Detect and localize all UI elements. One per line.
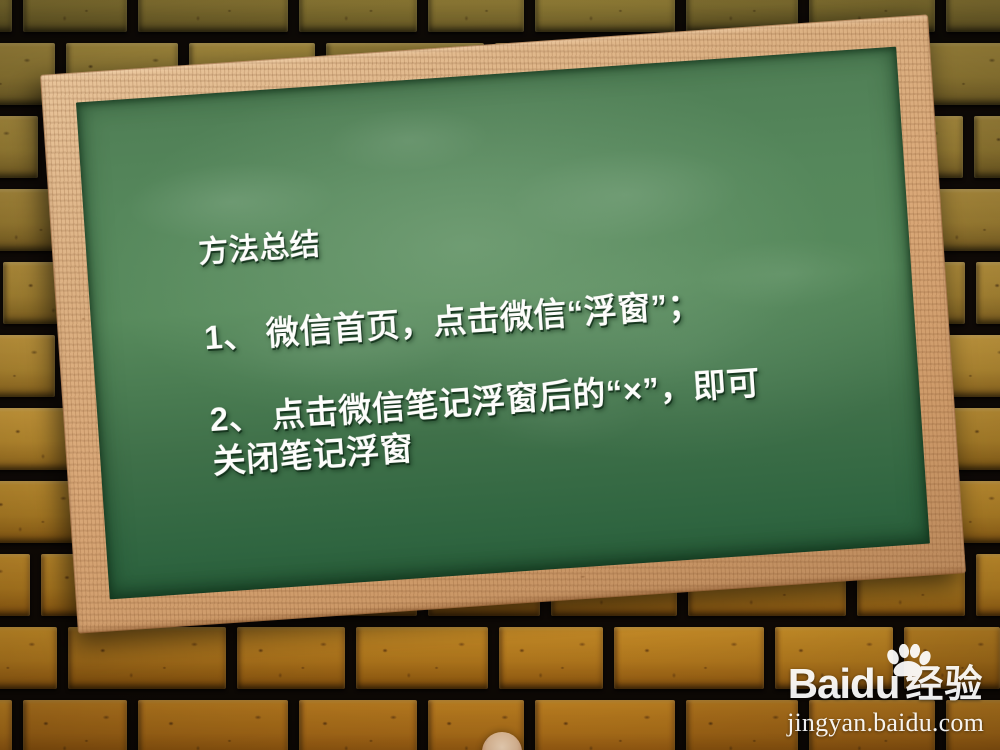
brick (138, 700, 288, 750)
brick (976, 262, 1000, 324)
brick (428, 0, 524, 32)
brick (686, 700, 798, 750)
brick (299, 700, 417, 750)
brick (974, 116, 1000, 178)
brick (904, 627, 1000, 689)
brick (0, 0, 12, 32)
chalkboard-wooden-frame: 方法总结 1、 微信首页，点击微信“浮窗”； 2、 点击微信笔记浮窗后的“×”，… (40, 14, 966, 633)
brick (0, 116, 38, 178)
brick (535, 700, 675, 750)
chalkboard-surface: 方法总结 1、 微信首页，点击微信“浮窗”； 2、 点击微信笔记浮窗后的“×”，… (76, 47, 930, 600)
chalkboard-text-block: 方法总结 1、 微信首页，点击微信“浮窗”； 2、 点击微信笔记浮窗后的“×”，… (197, 192, 874, 484)
brick (0, 335, 55, 397)
brick (23, 700, 127, 750)
brick (0, 554, 30, 616)
brick (68, 627, 226, 689)
chalkboard: 方法总结 1、 微信首页，点击微信“浮窗”； 2、 点击微信笔记浮窗后的“×”，… (40, 14, 966, 633)
brick (976, 554, 1000, 616)
brick (0, 700, 12, 750)
brick (299, 0, 417, 32)
brick (356, 627, 488, 689)
brick (237, 627, 345, 689)
brick (0, 627, 57, 689)
brick (138, 0, 288, 32)
brick (946, 700, 1000, 750)
brick (775, 627, 893, 689)
brick (809, 700, 935, 750)
brick (23, 0, 127, 32)
brick-row (0, 627, 1000, 689)
step-item-1: 1、 微信首页，点击微信“浮窗”； (203, 272, 866, 359)
brick (535, 0, 675, 32)
brick (499, 627, 603, 689)
brick (614, 627, 764, 689)
page-title: 方法总结 (197, 192, 860, 271)
step-item-2: 2、 点击微信笔记浮窗后的“×”，即可 关闭笔记浮窗 (208, 354, 874, 483)
screenshot-root: 方法总结 1、 微信首页，点击微信“浮窗”； 2、 点击微信笔记浮窗后的“×”，… (0, 0, 1000, 750)
brick (946, 0, 1000, 32)
